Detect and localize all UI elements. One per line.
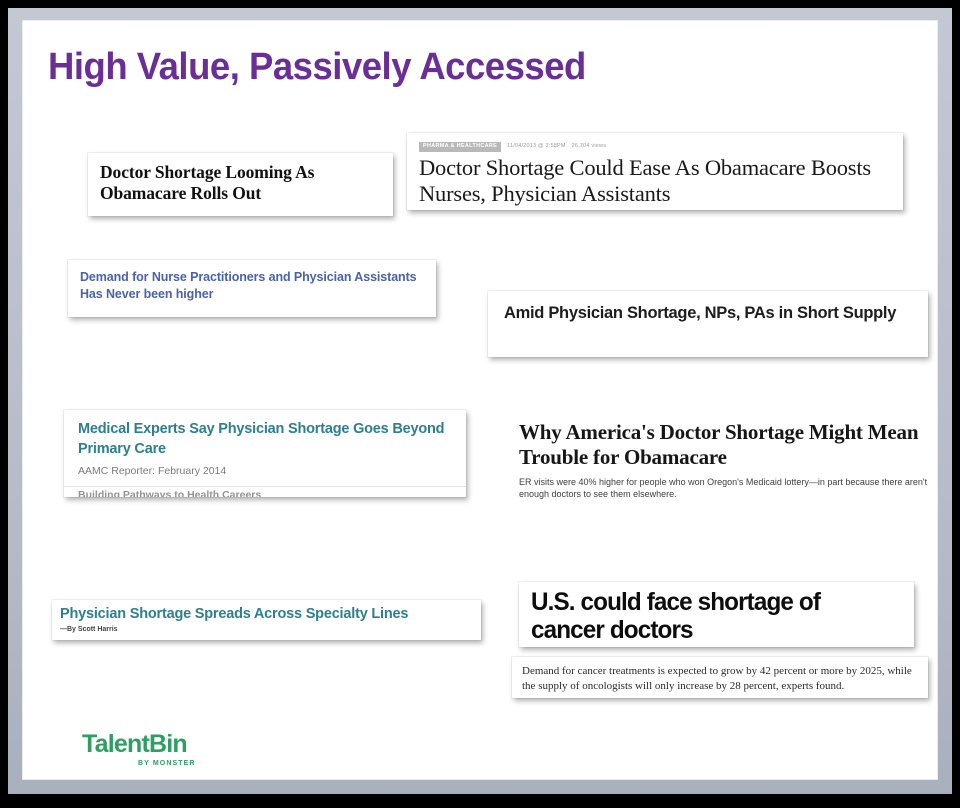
news-clipping-cancer-doctors-headline: U.S. could face shortage of cancer docto… xyxy=(519,582,914,647)
clipping-headline: Amid Physician Shortage, NPs, PAs in Sho… xyxy=(504,303,912,324)
news-clipping-why-americas-doctor-shortage: Why America's Doctor Shortage Might Mean… xyxy=(519,420,935,500)
clipping-deck: ER visits were 40% higher for people who… xyxy=(519,476,935,502)
news-clipping-demand-nurse-practitioners: Demand for Nurse Practitioners and Physi… xyxy=(68,260,436,317)
clipping-byline: —By Scott Harris xyxy=(60,626,473,633)
clipping-headline: Doctor Shortage Could Ease As Obamacare … xyxy=(419,155,891,208)
clipping-content: Demand for Nurse Practitioners and Physi… xyxy=(68,260,436,313)
clipping-headline-line1: U.S. could face shortage of xyxy=(531,588,891,616)
clipping-headline: Medical Experts Say Physician Shortage G… xyxy=(78,420,452,459)
clipping-content: Why America's Doctor Shortage Might Mean… xyxy=(519,420,935,501)
clipping-body-text: Demand for cancer treatments is expected… xyxy=(522,664,918,695)
news-clipping-cancer-doctors-body: Demand for cancer treatments is expected… xyxy=(512,657,928,698)
news-clipping-doctor-shortage-looming: Doctor Shortage Looming As Obamacare Rol… xyxy=(88,153,393,216)
clipping-headline: Doctor Shortage Looming As Obamacare Rol… xyxy=(100,162,381,205)
clipping-content: Doctor Shortage Looming As Obamacare Rol… xyxy=(88,153,393,215)
publish-date: 11/04/2013 @ 3:58PM xyxy=(507,144,566,150)
clipping-content: PHARMA & HEALTHCARE 11/04/2013 @ 3:58PM … xyxy=(407,133,903,217)
clipping-headline: Physician Shortage Spreads Across Specia… xyxy=(60,606,473,623)
clipping-headline: Why America's Doctor Shortage Might Mean… xyxy=(519,420,935,470)
logo-wordmark: TalentBin xyxy=(82,732,242,757)
news-clipping-amid-physician-shortage: Amid Physician Shortage, NPs, PAs in Sho… xyxy=(488,291,928,357)
clipping-content: Medical Experts Say Physician Shortage G… xyxy=(64,410,466,477)
news-clipping-doctor-shortage-could-ease: PHARMA & HEALTHCARE 11/04/2013 @ 3:58PM … xyxy=(407,133,903,210)
news-clipping-medical-experts-say: Medical Experts Say Physician Shortage G… xyxy=(64,410,466,497)
page-title: High Value, Passively Accessed xyxy=(48,46,586,89)
clipping-truncated-text: Building Pathways to Health Careers xyxy=(78,489,466,497)
clipping-headline: Demand for Nurse Practitioners and Physi… xyxy=(80,269,424,303)
clipping-headline-line2: cancer doctors xyxy=(531,616,891,644)
slide-canvas: High Value, Passively Accessed Doctor Sh… xyxy=(22,20,938,780)
clipping-content: Amid Physician Shortage, NPs, PAs in Sho… xyxy=(488,291,928,336)
screenshot-root: High Value, Passively Accessed Doctor Sh… xyxy=(0,0,960,808)
clipping-content: Physician Shortage Spreads Across Specia… xyxy=(52,600,481,638)
clipping-content: U.S. could face shortage of cancer docto… xyxy=(519,582,914,650)
clipping-content: Demand for cancer treatments is expected… xyxy=(512,657,928,702)
clipping-source: AAMC Reporter: February 2014 xyxy=(78,465,452,477)
slide-frame: High Value, Passively Accessed Doctor Sh… xyxy=(8,8,952,794)
logo-tagline: BY MONSTER xyxy=(138,760,242,767)
category-tag: PHARMA & HEALTHCARE xyxy=(419,142,501,152)
clipping-truncated-row: Building Pathways to Health Careers xyxy=(64,486,466,497)
news-clipping-physician-shortage-spreads: Physician Shortage Spreads Across Specia… xyxy=(52,600,481,640)
clipping-meta-row: PHARMA & HEALTHCARE 11/04/2013 @ 3:58PM … xyxy=(419,142,891,152)
talentbin-logo: TalentBin BY MONSTER xyxy=(82,732,242,767)
view-count: 26,704 views xyxy=(572,144,607,150)
